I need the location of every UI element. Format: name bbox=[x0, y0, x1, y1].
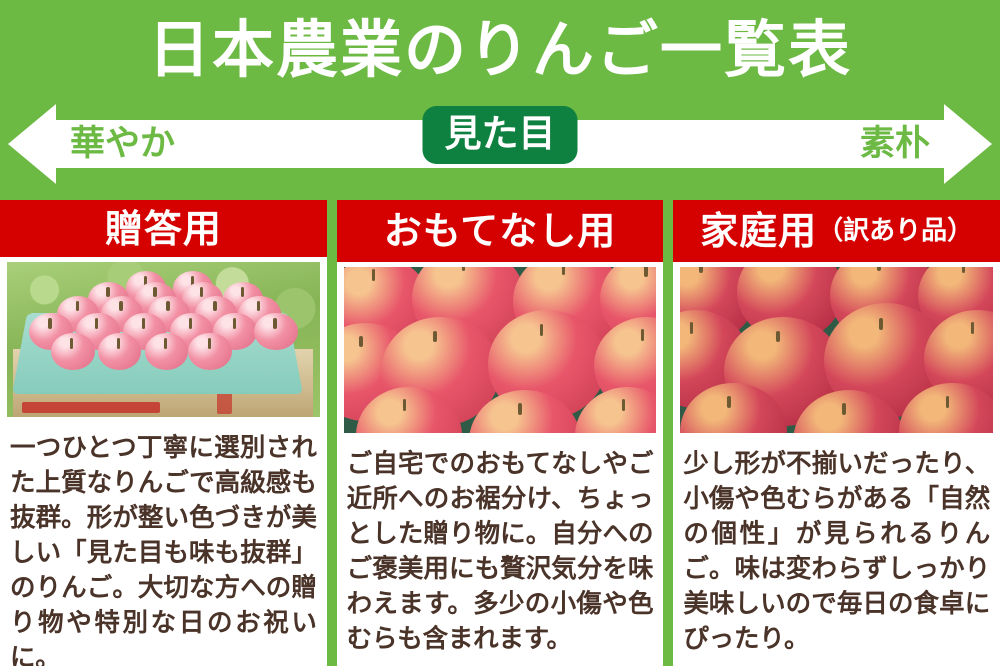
photo-apple-closeup bbox=[344, 267, 657, 434]
apple-stem bbox=[164, 338, 167, 349]
apple-stem bbox=[641, 329, 644, 341]
column-gift: 贈答用 一つひとつ丁寧に選別された上質なりんごで高級感も抜群。形が整い色づきが美… bbox=[0, 200, 327, 666]
apple-stem bbox=[48, 318, 51, 329]
column-home-use: 家庭用 （訳あり品） 少し形が不揃いだったり、小傷や色むらがある「自然の個性」が… bbox=[673, 200, 1000, 666]
column-heading-home-use: 家庭用 （訳あり品） bbox=[673, 200, 1000, 262]
arrow-left-icon bbox=[8, 104, 56, 184]
apple-stem bbox=[76, 301, 79, 312]
apple-stem bbox=[241, 287, 244, 298]
apple-stem bbox=[233, 318, 236, 329]
apple-stem bbox=[142, 318, 145, 329]
apple-stem bbox=[877, 267, 880, 271]
column-heading-sub: （訳あり品） bbox=[817, 209, 973, 253]
apple-stem bbox=[433, 331, 436, 343]
page-title: 日本農業のりんご一覧表 bbox=[0, 14, 1000, 86]
apple-stem bbox=[153, 287, 156, 298]
apple-stem bbox=[117, 338, 120, 349]
column-heading-main: おもてなし用 bbox=[384, 209, 616, 253]
apple-stem bbox=[540, 324, 543, 336]
apple-comparison-chart: 日本農業のりんご一覧表 華やか 素朴 見た目 贈答用 bbox=[0, 0, 1000, 666]
photo-gift-box bbox=[7, 262, 320, 417]
apple-stem bbox=[562, 267, 565, 275]
photo-apple-rustic bbox=[680, 267, 993, 434]
apple-stem bbox=[189, 318, 192, 329]
apple-stem bbox=[727, 396, 730, 408]
apple-stem bbox=[699, 267, 702, 274]
scale-center-badge: 見た目 bbox=[423, 106, 578, 164]
arrow-right-icon bbox=[944, 104, 992, 184]
apple-stem bbox=[644, 267, 647, 277]
apple-stem bbox=[200, 287, 203, 298]
apple-stem bbox=[776, 331, 779, 343]
column-divider-2 bbox=[663, 200, 673, 666]
apple-stem bbox=[70, 338, 73, 349]
column-body-home-use: 少し形が不揃いだったり、小傷や色むらがある「自然の個性」が見られるりんご。味は変… bbox=[673, 433, 1000, 666]
apple-stem bbox=[119, 301, 122, 312]
column-body-gift: 一つひとつ丁寧に選別された上質なりんごで高級感も抜群。形が整い色づきが美しい「見… bbox=[0, 417, 327, 666]
apple-stem bbox=[690, 322, 693, 334]
apple-stem bbox=[106, 287, 109, 298]
box-label-red bbox=[22, 402, 160, 413]
column-heading-main: 贈答用 bbox=[105, 207, 222, 251]
column-hospitality: おもてなし用 ご自宅でのおもてなしやご近所へのお裾分け、ちょっとした贈り物に。自… bbox=[337, 200, 664, 666]
apple-stem bbox=[842, 403, 845, 415]
apple-stem bbox=[403, 399, 406, 411]
apple-stem bbox=[518, 403, 521, 415]
apple-stem bbox=[95, 318, 98, 329]
column-divider-1 bbox=[327, 200, 337, 666]
scale-label-right: 素朴 bbox=[860, 124, 930, 164]
apple-stem bbox=[971, 322, 974, 334]
apple-stem bbox=[879, 318, 882, 330]
header-band: 日本農業のりんご一覧表 華やか 素朴 見た目 bbox=[0, 0, 1000, 200]
apple-stem bbox=[622, 399, 625, 411]
column-heading-gift: 贈答用 bbox=[0, 200, 327, 257]
appearance-scale: 華やか 素朴 見た目 bbox=[0, 104, 1000, 184]
apple-stem bbox=[372, 269, 375, 281]
columns-container: 贈答用 一つひとつ丁寧に選別された上質なりんごで高級感も抜群。形が整い色づきが美… bbox=[0, 200, 1000, 666]
column-heading-main: 家庭用 bbox=[700, 209, 817, 253]
apple-stem bbox=[166, 301, 169, 312]
apple-stem bbox=[257, 301, 260, 312]
scale-label-left: 華やか bbox=[70, 124, 175, 164]
apple-stem bbox=[213, 301, 216, 312]
apple-stem bbox=[273, 318, 276, 329]
column-heading-hospitality: おもてなし用 bbox=[337, 200, 664, 262]
apple-stem bbox=[359, 336, 362, 348]
column-body-hospitality: ご自宅でのおもてなしやご近所へのお裾分け、ちょっとした贈り物に。自分へのご褒美用… bbox=[337, 433, 664, 666]
apple-stem bbox=[946, 396, 949, 408]
box-label-red-vertical bbox=[217, 391, 232, 414]
apple-stem bbox=[208, 338, 211, 349]
